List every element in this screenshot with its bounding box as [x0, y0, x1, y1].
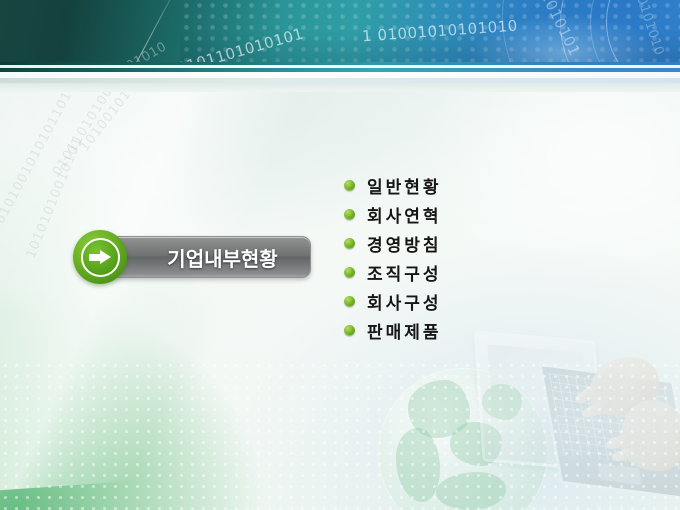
list-item[interactable]: 경영방침 [344, 229, 564, 258]
section-title-label: 기업내부현황 [133, 243, 277, 272]
list-item-label: 회사연혁 [367, 202, 442, 227]
agenda-list: 일반현황 회사연혁 경영방침 조직구성 회사구성 판매제품 [344, 171, 564, 345]
list-item[interactable]: 일반현황 [344, 171, 564, 200]
list-item[interactable]: 회사연혁 [344, 200, 564, 229]
list-item-label: 회사구성 [367, 289, 442, 314]
presentation-slide: 0101001010101101 10101010010101 01011010… [0, 0, 680, 510]
list-item-label: 경영방침 [367, 231, 442, 256]
bullet-sphere-icon [344, 180, 355, 191]
bullet-sphere-icon [344, 267, 355, 278]
header-binary-text-4: 010101010 [94, 39, 170, 62]
slide-header-banner: 010101010 0101101010101 1 01001010101010… [0, 0, 680, 62]
section-title-button[interactable]: 기업내부현황 [100, 236, 311, 278]
list-item[interactable]: 판매제품 [344, 316, 564, 345]
header-divider-stripe [0, 83, 680, 92]
bullet-sphere-icon [344, 325, 355, 336]
arrow-right-glyph [89, 253, 111, 261]
list-item-label: 일반현황 [367, 173, 442, 198]
bullet-sphere-icon [344, 209, 355, 220]
list-item[interactable]: 회사구성 [344, 287, 564, 316]
bullet-sphere-icon [344, 296, 355, 307]
bullet-sphere-icon [344, 238, 355, 249]
arrow-right-icon[interactable] [73, 230, 127, 284]
list-item-label: 판매제품 [367, 318, 442, 343]
list-item-label: 조직구성 [367, 260, 442, 285]
list-item[interactable]: 조직구성 [344, 258, 564, 287]
arrow-right-icon-inner [81, 238, 120, 277]
